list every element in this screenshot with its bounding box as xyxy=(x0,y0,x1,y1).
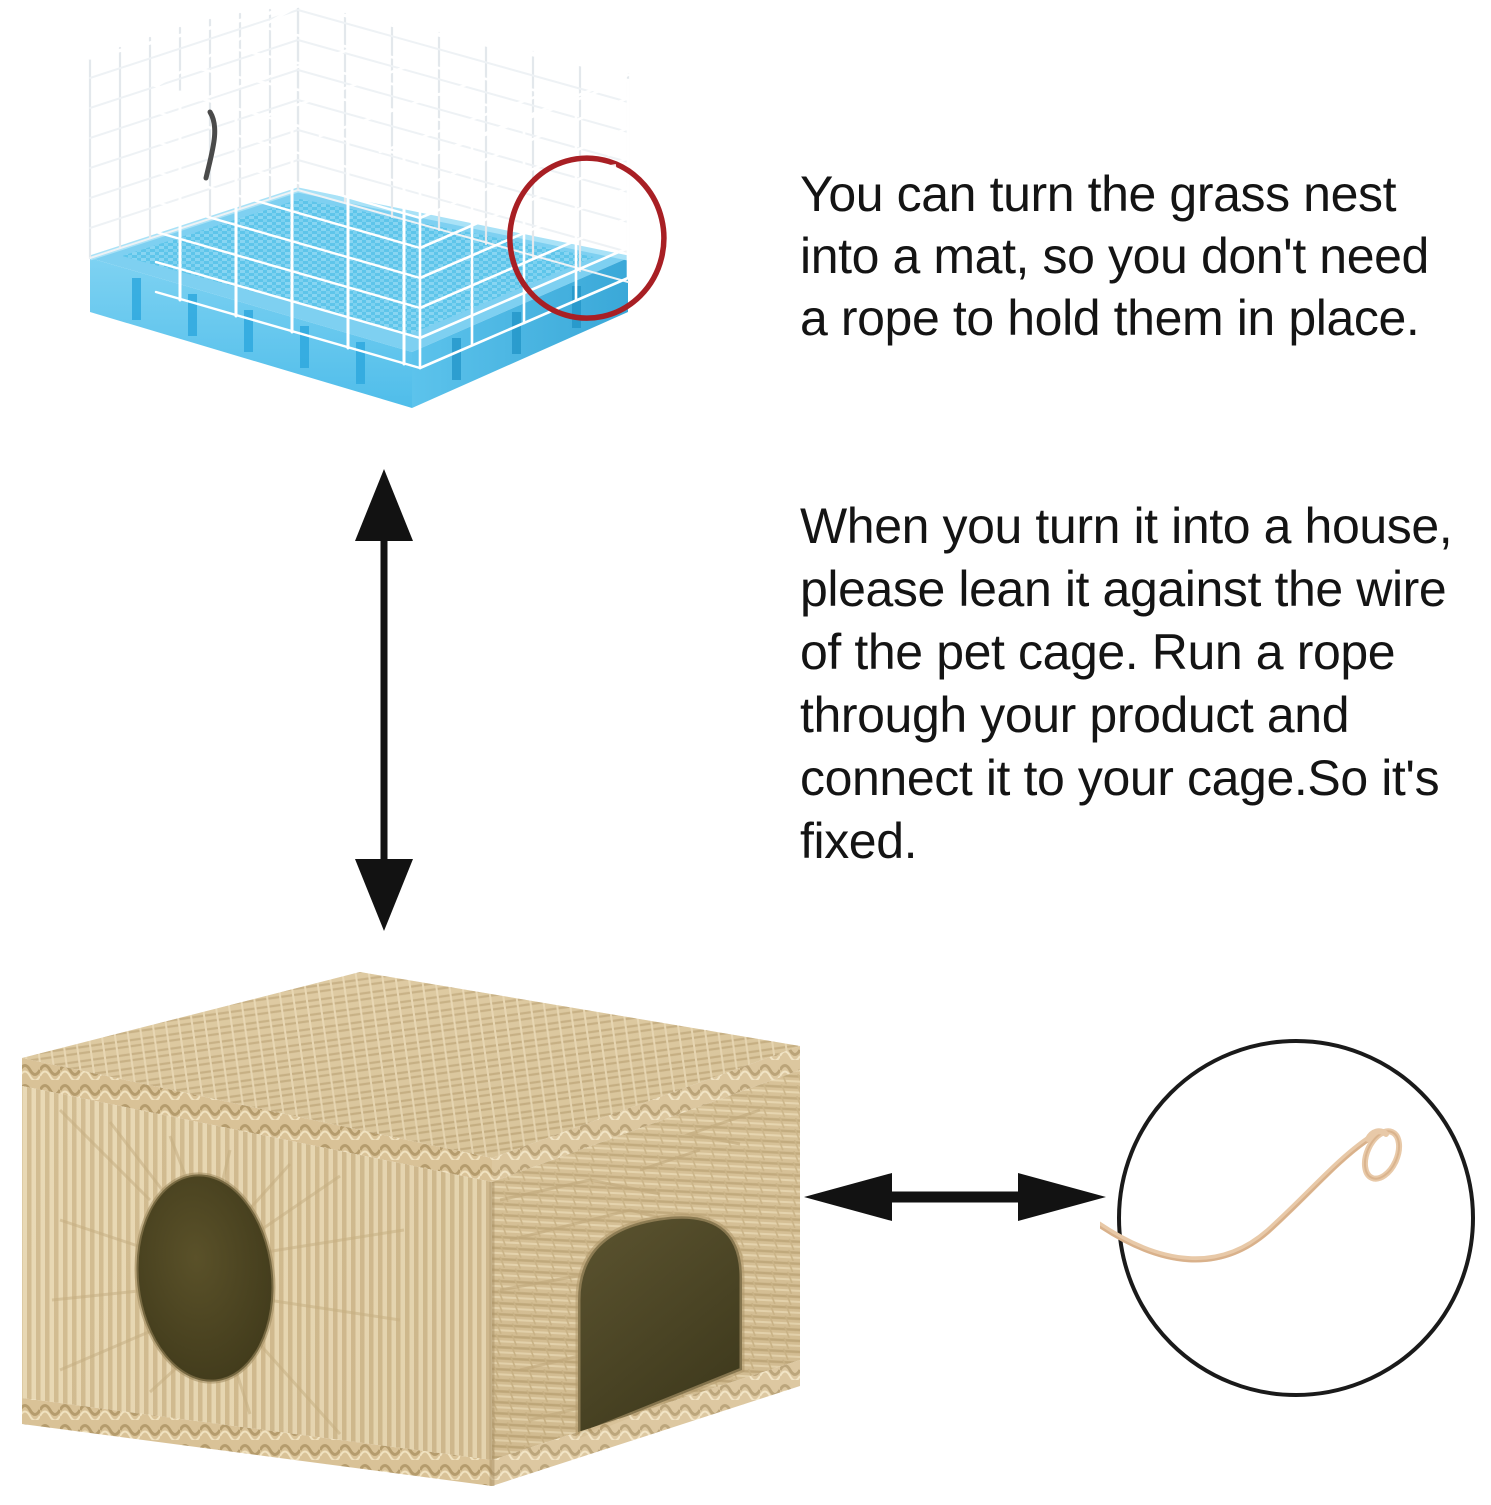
vertical-arrow-svg xyxy=(337,465,433,935)
arrow-head-left xyxy=(804,1173,892,1221)
infographic-canvas: You can turn the grass nest into a mat, … xyxy=(0,0,1491,1500)
rope-closeup-inset xyxy=(1100,1035,1490,1405)
rope-inset-svg xyxy=(1100,1035,1490,1405)
arrow-head-up xyxy=(355,469,413,541)
inset-circle-outline xyxy=(1119,1041,1473,1395)
vertical-double-arrow xyxy=(337,465,433,935)
grass-house-illustration xyxy=(0,900,830,1500)
instruction-text-mat: You can turn the grass nest into a mat, … xyxy=(800,163,1491,349)
instruction-text-house: When you turn it into a house, please le… xyxy=(800,495,1490,873)
horizontal-double-arrow xyxy=(800,1165,1110,1265)
grass-house-image xyxy=(0,900,830,1500)
pet-cage-image xyxy=(60,0,690,440)
cage-illustration xyxy=(60,0,690,440)
horizontal-arrow-svg xyxy=(800,1165,1110,1265)
arrow-head-right xyxy=(1018,1173,1106,1221)
